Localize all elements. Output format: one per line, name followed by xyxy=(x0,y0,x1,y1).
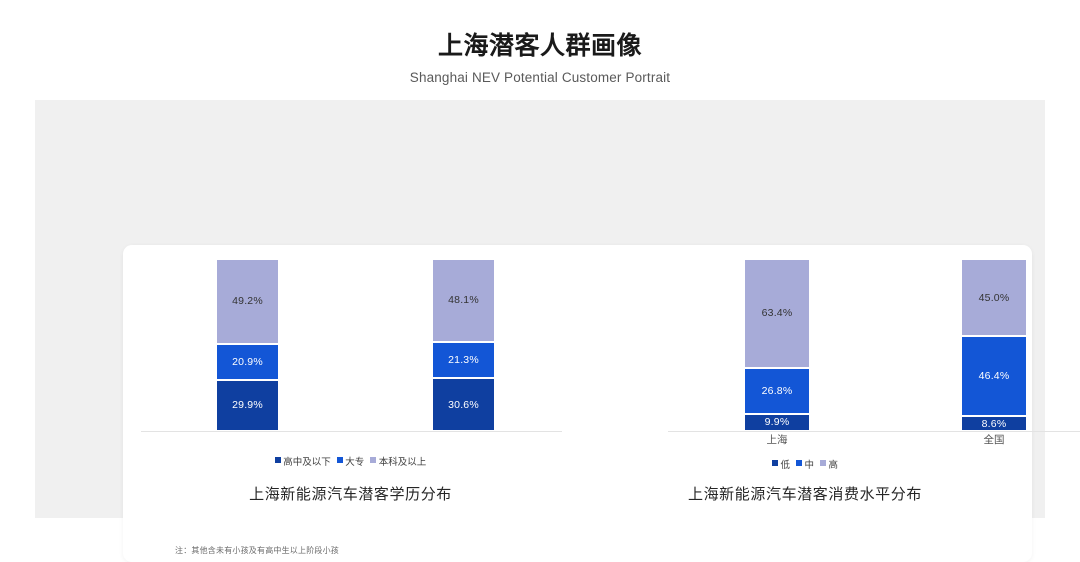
bar-value-label: 8.6% xyxy=(982,418,1007,430)
bar-value-label: 46.4% xyxy=(979,370,1010,382)
bar-value-label: 29.9% xyxy=(232,399,263,411)
bar-segment: 29.9% xyxy=(216,380,279,431)
legend-label: 高中及以下 xyxy=(283,457,331,468)
page-title: 上海潜客人群画像 xyxy=(0,0,1080,62)
chart-caption: 上海新能源汽车潜客消费水平分布 xyxy=(578,483,1032,504)
bar-value-label: 9.9% xyxy=(765,416,790,428)
slide-background-panel: 29.9%20.9%49.2%30.6%21.3%48.1% 高中及以下大专本科… xyxy=(35,100,1045,518)
legend-swatch-icon xyxy=(820,460,826,466)
stacked-bar: 30.6%21.3%48.1% xyxy=(432,259,495,431)
plot-area: 9.9%26.8%63.4%8.6%46.4%45.0% xyxy=(578,245,1032,445)
bar-value-label: 49.2% xyxy=(232,295,263,307)
legend-label: 高 xyxy=(829,460,839,471)
stacked-bar: 9.9%26.8%63.4% xyxy=(744,259,810,431)
chart-legend: 高中及以下大专本科及以上 xyxy=(123,451,578,469)
category-label-row xyxy=(123,432,578,450)
bar-segment: 45.0% xyxy=(961,259,1027,336)
legend-label: 低 xyxy=(780,460,790,471)
chart-consumption-level-distribution: 9.9%26.8%63.4%8.6%46.4%45.0% 上海全国 低中高 上海… xyxy=(578,245,1032,562)
stacked-bar: 29.9%20.9%49.2% xyxy=(216,259,279,431)
legend-swatch-icon xyxy=(370,457,376,463)
legend-item[interactable]: 高中及以下 xyxy=(275,454,331,468)
bar-segment: 49.2% xyxy=(216,259,279,344)
bar-value-label: 30.6% xyxy=(448,399,479,411)
bar-value-label: 20.9% xyxy=(232,356,263,368)
bar-segment: 9.9% xyxy=(744,414,810,431)
bar-value-label: 63.4% xyxy=(762,307,793,319)
legend-swatch-icon xyxy=(772,460,778,466)
legend-item[interactable]: 本科及以上 xyxy=(370,454,426,468)
legend-item[interactable]: 高 xyxy=(820,457,838,471)
stacked-bar: 8.6%46.4%45.0% xyxy=(961,259,1027,431)
category-label: 全国 xyxy=(961,432,1027,447)
page-header: 上海潜客人群画像 Shanghai NEV Potential Customer… xyxy=(0,0,1080,85)
legend-item[interactable]: 中 xyxy=(796,457,814,471)
legend-item[interactable]: 低 xyxy=(772,457,790,471)
bar-segment: 48.1% xyxy=(432,259,495,342)
bar-value-label: 48.1% xyxy=(448,294,479,306)
legend-label: 大专 xyxy=(345,457,364,468)
chart-legend: 低中高 xyxy=(578,454,1032,472)
legend-swatch-icon xyxy=(275,457,281,463)
legend-item[interactable]: 大专 xyxy=(337,454,365,468)
plot-area: 29.9%20.9%49.2%30.6%21.3%48.1% xyxy=(123,245,578,445)
category-label-row: 上海全国 xyxy=(578,432,1032,450)
legend-swatch-icon xyxy=(337,457,343,463)
bar-segment: 63.4% xyxy=(744,259,810,368)
legend-swatch-icon xyxy=(796,460,802,466)
charts-card: 29.9%20.9%49.2%30.6%21.3%48.1% 高中及以下大专本科… xyxy=(123,245,1032,562)
bar-segment: 21.3% xyxy=(432,342,495,379)
bar-value-label: 45.0% xyxy=(979,292,1010,304)
category-label: 上海 xyxy=(744,432,810,447)
bar-segment: 26.8% xyxy=(744,368,810,414)
chart-education-distribution: 29.9%20.9%49.2%30.6%21.3%48.1% 高中及以下大专本科… xyxy=(123,245,578,562)
legend-label: 中 xyxy=(804,460,814,471)
chart-caption: 上海新能源汽车潜客学历分布 xyxy=(123,483,578,504)
bar-value-label: 21.3% xyxy=(448,354,479,366)
page-subtitle: Shanghai NEV Potential Customer Portrait xyxy=(0,62,1080,85)
bar-segment: 46.4% xyxy=(961,336,1027,416)
bar-value-label: 26.8% xyxy=(762,385,793,397)
bar-segment: 30.6% xyxy=(432,378,495,431)
bar-segment: 20.9% xyxy=(216,344,279,380)
legend-label: 本科及以上 xyxy=(379,457,427,468)
bar-segment: 8.6% xyxy=(961,416,1027,431)
